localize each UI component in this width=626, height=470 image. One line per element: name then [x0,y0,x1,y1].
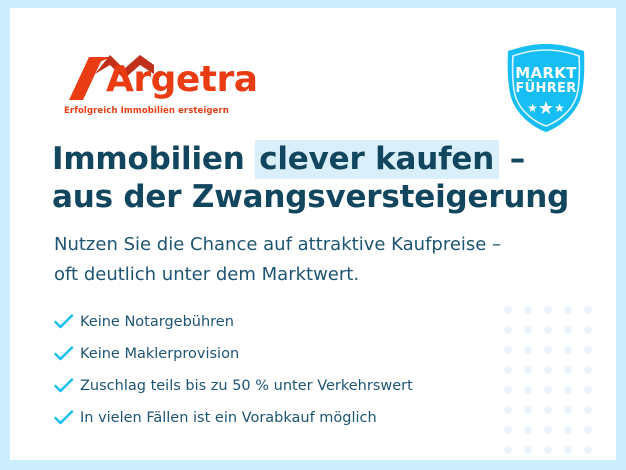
badge-stars: ★★★ [500,99,592,117]
marktfuehrer-badge: MARKT FÜHRER ★★★ [500,42,592,134]
decorative-dot [524,406,532,414]
list-item: Zuschlag teils bis zu 50 % unter Verkehr… [54,370,504,402]
decorative-dot [584,426,592,434]
list-item: In vielen Fällen ist ein Vorabkauf mögli… [54,402,504,434]
decorative-dot [544,406,552,414]
check-icon [54,311,80,333]
decorative-dot [504,426,512,434]
decorative-dot [544,346,552,354]
decorative-dot [524,446,532,454]
decorative-dot [504,386,512,394]
badge-line2: FÜHRER [500,81,592,96]
subtitle-line2: oft deutlich unter dem Marktwert. [54,264,359,285]
list-item: Keine Maklerprovision [54,338,504,370]
check-icon [54,375,80,397]
logo-tagline: Erfolgreich Immobilien ersteigern [64,106,229,116]
decorative-dot [544,326,552,334]
decorative-dot [544,386,552,394]
headline-highlight: clever kaufen [255,140,499,179]
decorative-dot [524,346,532,354]
page-title: Immobilien clever kaufen – aus der Zwang… [52,140,572,216]
decorative-dot [544,366,552,374]
decorative-dot [584,406,592,414]
decorative-dot [564,426,572,434]
decorative-dot [544,446,552,454]
subtitle-line1: Nutzen Sie die Chance auf attraktive Kau… [54,234,501,255]
decorative-dot [504,366,512,374]
dot-grid-decoration [504,306,604,460]
decorative-dot [504,326,512,334]
decorative-dot [504,346,512,354]
promo-banner: Argetra Erfolgreich Immobilien ersteiger… [10,8,616,460]
decorative-dot [524,326,532,334]
benefits-checklist: Keine Notargebühren Keine Maklerprovisio… [54,306,504,434]
decorative-dot [504,446,512,454]
headline-line1-pre: Immobilien [52,141,255,177]
headline-line2: aus der Zwangsversteigerung [52,179,569,215]
decorative-dot [564,326,572,334]
list-item-label: In vielen Fällen ist ein Vorabkauf mögli… [80,410,377,426]
decorative-dot [584,366,592,374]
decorative-dot [584,326,592,334]
decorative-dot [584,386,592,394]
check-icon [54,407,80,429]
decorative-dot [504,306,512,314]
argetra-logo[interactable]: Argetra Erfolgreich Immobilien ersteiger… [62,52,252,122]
decorative-dot [564,366,572,374]
decorative-dot [584,306,592,314]
decorative-dot [524,426,532,434]
decorative-dot [524,386,532,394]
decorative-dot [524,366,532,374]
decorative-dot [504,406,512,414]
badge-line1: MARKT [500,64,592,82]
list-item: Keine Notargebühren [54,306,504,338]
decorative-dot [544,426,552,434]
check-icon [54,343,80,365]
decorative-dot [524,306,532,314]
decorative-dot [584,346,592,354]
decorative-dot [564,306,572,314]
decorative-dot [564,346,572,354]
headline-line1-post: – [499,141,525,177]
decorative-dot [564,386,572,394]
decorative-dot [584,446,592,454]
decorative-dot [564,446,572,454]
logo-wordmark: Argetra [106,62,258,98]
decorative-dot [564,406,572,414]
list-item-label: Keine Maklerprovision [80,346,239,362]
list-item-label: Zuschlag teils bis zu 50 % unter Verkehr… [80,378,413,394]
decorative-dot [544,306,552,314]
list-item-label: Keine Notargebühren [80,314,234,330]
subtitle: Nutzen Sie die Chance auf attraktive Kau… [54,230,574,290]
